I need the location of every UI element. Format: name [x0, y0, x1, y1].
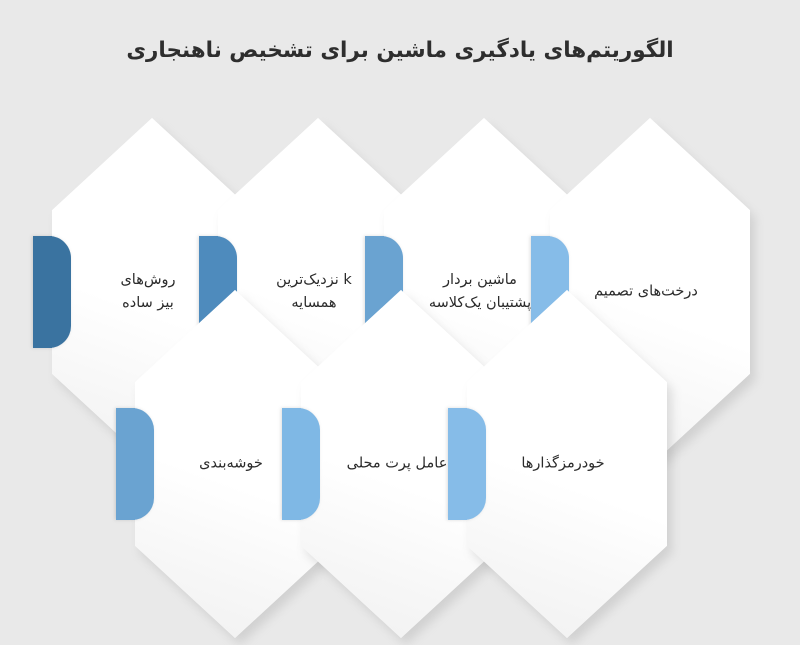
hexagon-label: خودرمزگذارها — [467, 452, 667, 475]
infographic-canvas: الگوریتم‌های یادگیری ماشین برای تشخیص نا… — [0, 0, 800, 500]
page-title: الگوریتم‌های یادگیری ماشین برای تشخیص نا… — [0, 36, 800, 65]
hexagon-autoencoders[interactable]: خودرمزگذارها — [467, 290, 667, 638]
hexagon-label-line1: خودرمزگذارها — [481, 452, 645, 475]
